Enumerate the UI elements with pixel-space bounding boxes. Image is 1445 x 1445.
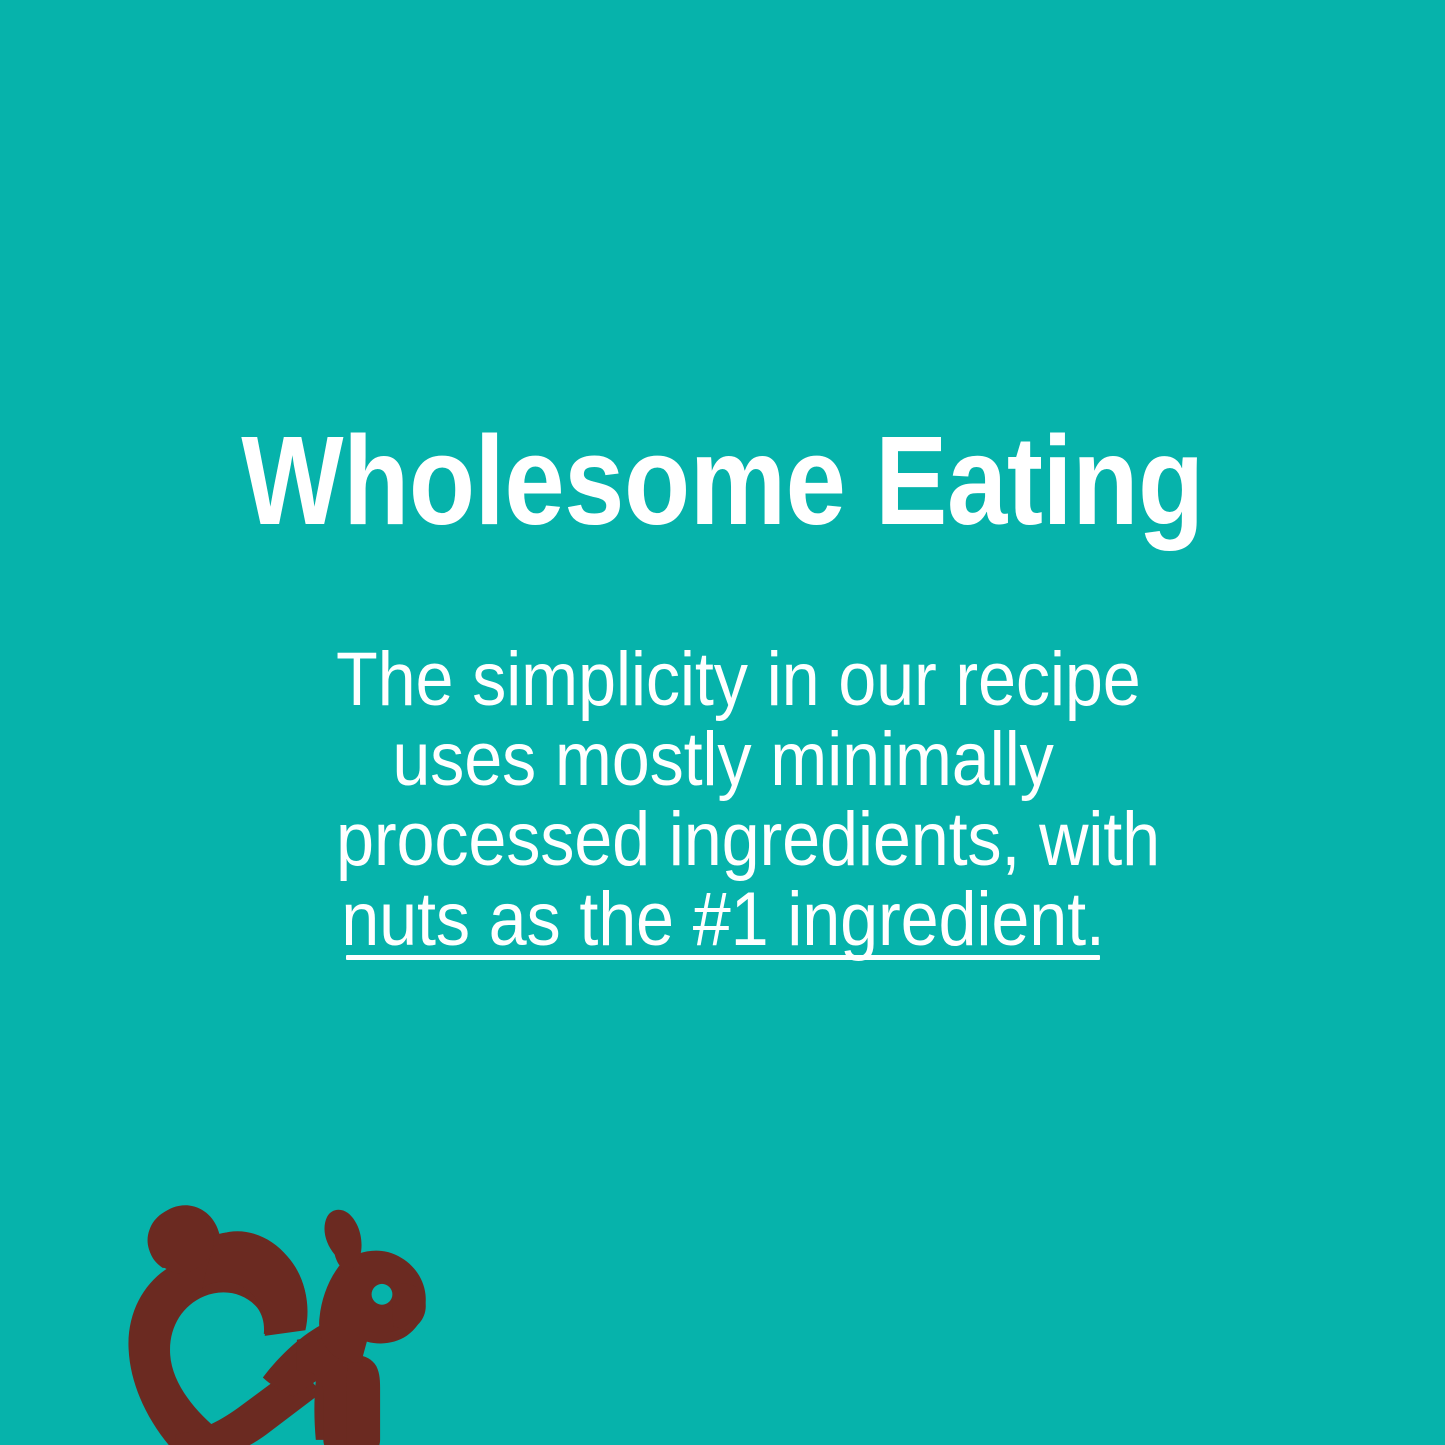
page-title: Wholesome Eating (101, 418, 1344, 544)
squirrel-icon (68, 1196, 418, 1445)
squirrel-eye (372, 1284, 393, 1305)
body-line-3: processed ingredients, with (336, 800, 1110, 880)
underline-rule (346, 955, 1100, 960)
body-line-4: nuts as the #1 ingredient. (336, 880, 1110, 960)
body-line-2: uses mostly minimally (336, 720, 1110, 800)
body-line-1: The simplicity in our recipe (336, 640, 1110, 720)
body-paragraph: The simplicity in our recipe uses mostly… (336, 640, 1110, 960)
squirrel-logo (68, 1196, 418, 1445)
promo-card: Wholesome Eating The simplicity in our r… (0, 0, 1445, 1445)
